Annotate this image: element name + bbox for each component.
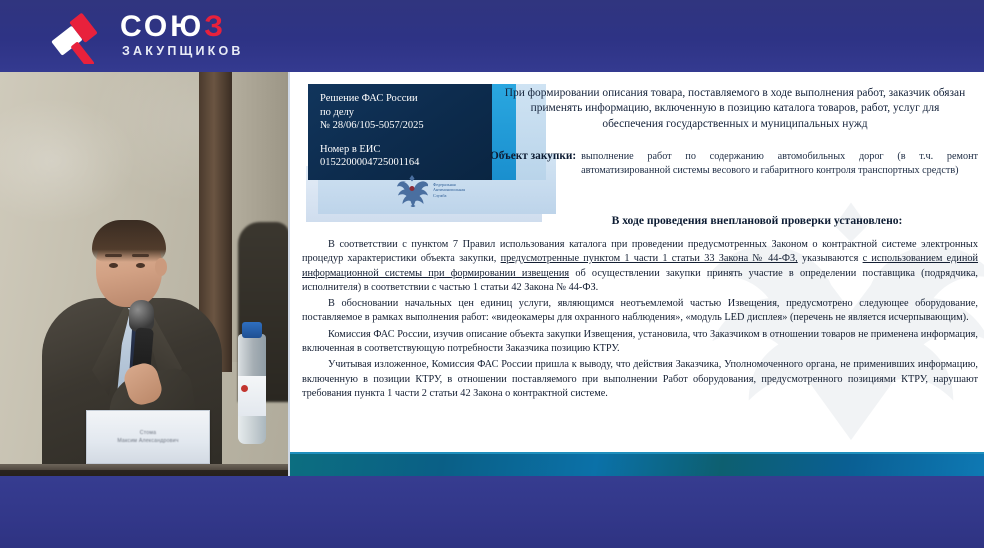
- nameplate-line-1: Стома: [140, 430, 156, 436]
- speaker-eye-right: [136, 263, 145, 268]
- presentation-slide[interactable]: Решение ФАС России по делу № 28/06/105-5…: [288, 72, 984, 476]
- paragraph-4: Учитывая изложенное, Комиссия ФАС России…: [302, 358, 978, 401]
- procurement-object-row: Объект закупки: выполнение работ по соде…: [490, 150, 978, 177]
- decision-line-1: Решение ФАС России: [320, 92, 482, 106]
- brand-title: СОЮЗ: [120, 11, 296, 43]
- brand-subtitle: ЗАКУПЩИКОВ: [120, 43, 296, 59]
- speaker-ear: [155, 258, 167, 276]
- eis-label: Номер в ЕИС: [320, 143, 482, 157]
- emblem-text-line-3: Служба: [433, 193, 465, 199]
- p1-part2: указываются: [798, 253, 863, 264]
- water-bottle-label: [238, 376, 266, 416]
- fas-emblem-caption: Федеральная Антимонопольная Служба: [433, 182, 465, 199]
- paragraph-1: В соответствии с пунктом 7 Правил исполь…: [302, 238, 978, 295]
- eis-number: 0152200004725001164: [320, 156, 482, 170]
- speaker-brow-left: [105, 254, 122, 257]
- decision-card: Решение ФАС России по делу № 28/06/105-5…: [308, 84, 492, 180]
- stage-bottom-bar: [0, 476, 984, 548]
- fas-russia-emblem-icon: [396, 173, 428, 207]
- slide-body-text: В соответствии с пунктом 7 Правил исполь…: [302, 238, 978, 403]
- slide-footer-band: [290, 452, 984, 476]
- brand-wordmark: СОЮЗ ЗАКУПЩИКОВ: [120, 11, 296, 59]
- slide-intro-text: При формировании описания товара, постав…: [500, 86, 970, 132]
- water-bottle-cap: [242, 322, 262, 338]
- emblem-text-line-2: Антимонопольная: [433, 187, 465, 193]
- paragraph-3: Комиссия ФАС России, изучив описание объ…: [302, 328, 978, 357]
- brand-logo: СОЮЗ ЗАКУПЩИКОВ: [44, 6, 294, 66]
- inspection-heading: В ходе проведения внеплановой проверки у…: [542, 214, 972, 227]
- speaker-hair: [92, 220, 166, 262]
- paragraph-2: В обосновании начальных цен единиц услуг…: [302, 297, 978, 326]
- decision-line-2: по делу: [320, 106, 482, 120]
- p1-underline1: предусмотренные пунктом 1 части 1 статьи…: [501, 253, 798, 264]
- app-header: СОЮЗ ЗАКУПЩИКОВ: [0, 0, 984, 72]
- gavel-icon: [50, 8, 112, 64]
- speaker-nameplate: Стома Максим Александрович: [86, 410, 210, 464]
- nameplate-line-2: Максим Александрович: [117, 438, 178, 444]
- speaker-eye-left: [109, 263, 118, 268]
- decision-line-3: № 28/06/105-5057/2025: [320, 119, 482, 133]
- procurement-object-text: выполнение работ по содержанию автомобил…: [581, 150, 978, 177]
- procurement-object-label: Объект закупки:: [490, 150, 581, 177]
- speaker-brow-right: [132, 254, 149, 257]
- speaker-video-pane[interactable]: Стома Максим Александрович: [0, 72, 288, 476]
